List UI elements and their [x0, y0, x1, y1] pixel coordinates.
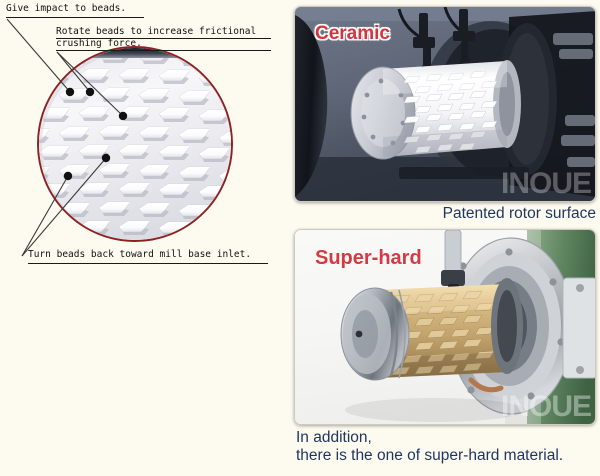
- callout-dot-1: [66, 88, 74, 96]
- callout-dots: [64, 88, 127, 180]
- callout-underline-impact: [6, 17, 144, 18]
- callout-dot-4: [64, 172, 72, 180]
- callout-label-turn-beads: Turn beads back toward mill base inlet.: [28, 249, 251, 261]
- photo-badge-ceramic: Ceramic: [315, 23, 390, 45]
- callout-underline-rotate-line2: [56, 50, 271, 51]
- photo-ceramic-rotor: Ceramic INOUE: [294, 6, 596, 202]
- caption-patented-rotor-surface: Patented rotor surface: [294, 205, 596, 223]
- callout-label-give-impact: Give impact to beads.: [6, 3, 126, 15]
- magnified-surface-diagram: Give impact to beads. Rotate beads to in…: [0, 0, 288, 476]
- callout-underline-rotate-line1: [56, 38, 271, 39]
- callout-dot-3: [119, 112, 127, 120]
- caption-superhard-material: In addition, there is the one of super-h…: [296, 429, 600, 465]
- callout-leader-lines: [0, 0, 288, 476]
- page-root: Give impact to beads. Rotate beads to in…: [0, 0, 600, 476]
- callout-dot-2: [86, 88, 94, 96]
- callout-dot-5: [102, 154, 110, 162]
- photo-superhard-rotor: Super-hard INOUE: [294, 229, 596, 425]
- photo-badge-superhard: Super-hard: [315, 247, 422, 270]
- callout-underline-turn: [28, 263, 268, 264]
